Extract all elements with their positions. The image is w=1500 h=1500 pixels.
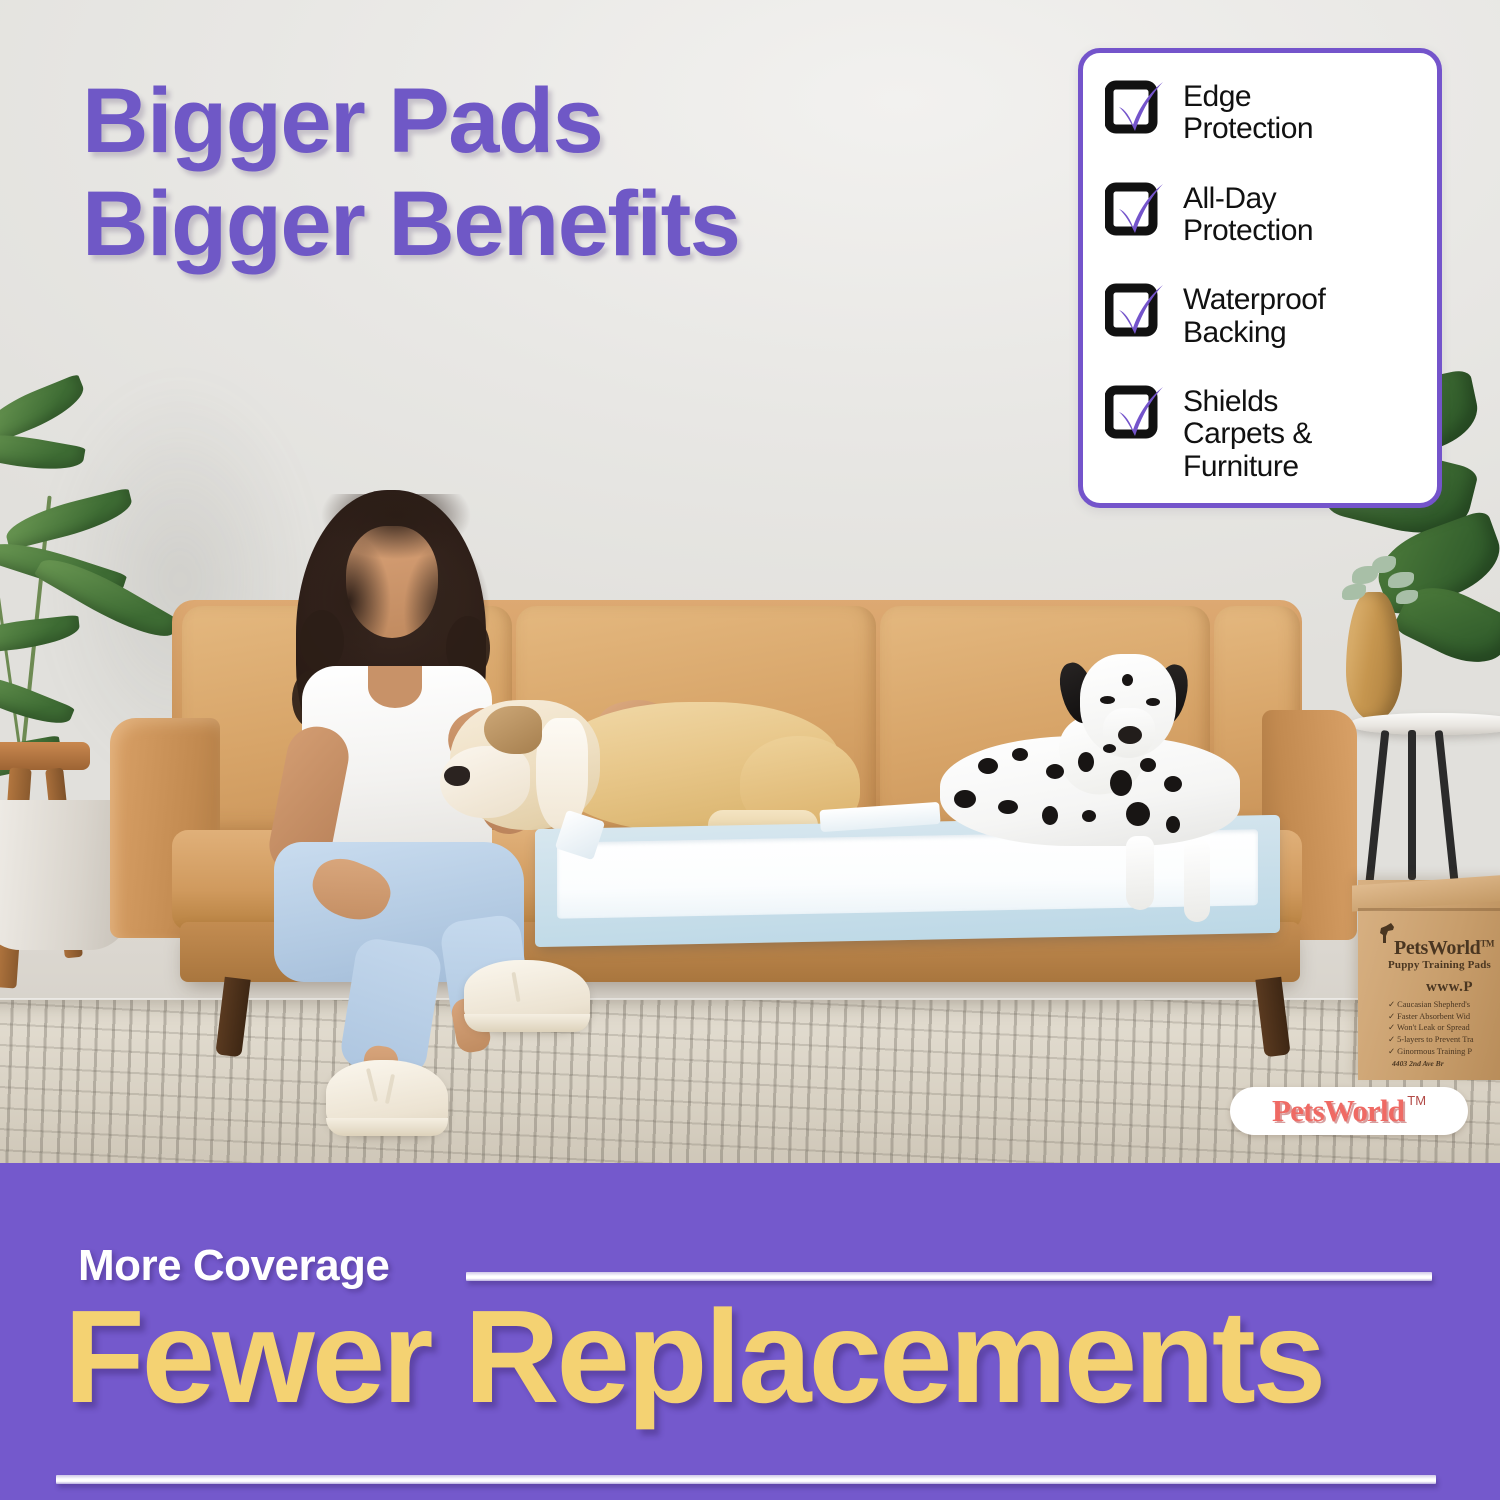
box-bullet: ✓ Caucasian Shepherd's [1388,999,1500,1011]
logo-wordmark: PetsWorld [1272,1093,1404,1129]
box-brand-name: PetsWorld [1394,938,1480,959]
box-seam [1358,908,1500,911]
dalmatian-front-leg [1126,836,1154,910]
feature-item-edge-protection: Edge Protection [1105,79,1419,146]
right-side-table [1352,713,1500,735]
bulldog-nose [444,766,470,786]
dalmatian [940,640,1280,880]
neckline [368,666,422,708]
feature-item-waterproof-backing: Waterproof Backing [1105,282,1419,349]
checkbox-checked-icon [1105,282,1167,342]
feature-label: All-Day Protection [1183,181,1313,248]
box-address: 4403 2nd Ave Br [1392,1060,1500,1068]
dalmatian-front-leg [1184,840,1210,922]
sofa-leg [215,977,250,1058]
feature-label: Waterproof Backing [1183,282,1325,349]
product-ad-image: PetsWorldTM Puppy Training Pads www.P ✓ … [0,0,1500,1500]
box-trademark: TM [1480,938,1494,948]
box-bullet: ✓ Faster Absorbent Wid [1388,1011,1500,1023]
box-printed-text: PetsWorldTM Puppy Training Pads www.P ✓ … [1374,938,1500,1080]
checkbox-checked-icon [1105,384,1167,444]
sneaker-sole [326,1118,448,1136]
petsworld-logo: PetsWorld TM [1230,1087,1468,1135]
dalmatian-nose [1118,726,1142,744]
logo-trademark: TM [1407,1093,1426,1108]
bottom-banner: More Coverage Fewer Replacements [0,1163,1500,1500]
box-bullet: ✓ 5-layers to Prevent Tra [1388,1034,1500,1046]
box-bullet: ✓ Won't Leak or Spread [1388,1022,1500,1034]
page-title: Bigger Pads Bigger Benefits [82,70,962,276]
box-subtitle: Puppy Training Pads [1388,960,1500,972]
side-table-leg-3 [1408,730,1416,880]
left-side-table-top [0,742,90,770]
banner-rule-top [466,1272,1432,1281]
box-bullet: ✓ Ginormous Training P [1388,1046,1500,1058]
banner-rule-bottom [56,1475,1436,1484]
feature-checklist-card: Edge Protection All-Day Protection Water… [1078,48,1442,508]
feature-label: Edge Protection [1183,79,1313,146]
feature-item-all-day-protection: All-Day Protection [1105,181,1419,248]
sofa-leg [1255,977,1290,1058]
bulldog-ear [484,706,542,754]
box-url: www.P [1426,980,1500,996]
feature-label: Shields Carpets & Furniture [1183,384,1312,483]
banner-headline: Fewer Replacements [64,1291,1464,1423]
box-bullet-list: ✓ Caucasian Shepherd's ✓ Faster Absorben… [1388,999,1500,1057]
checkbox-checked-icon [1105,79,1167,139]
feature-item-shields-carpets-furniture: Shields Carpets & Furniture [1105,384,1419,483]
checkbox-checked-icon [1105,181,1167,241]
sneaker-sole [464,1014,590,1032]
